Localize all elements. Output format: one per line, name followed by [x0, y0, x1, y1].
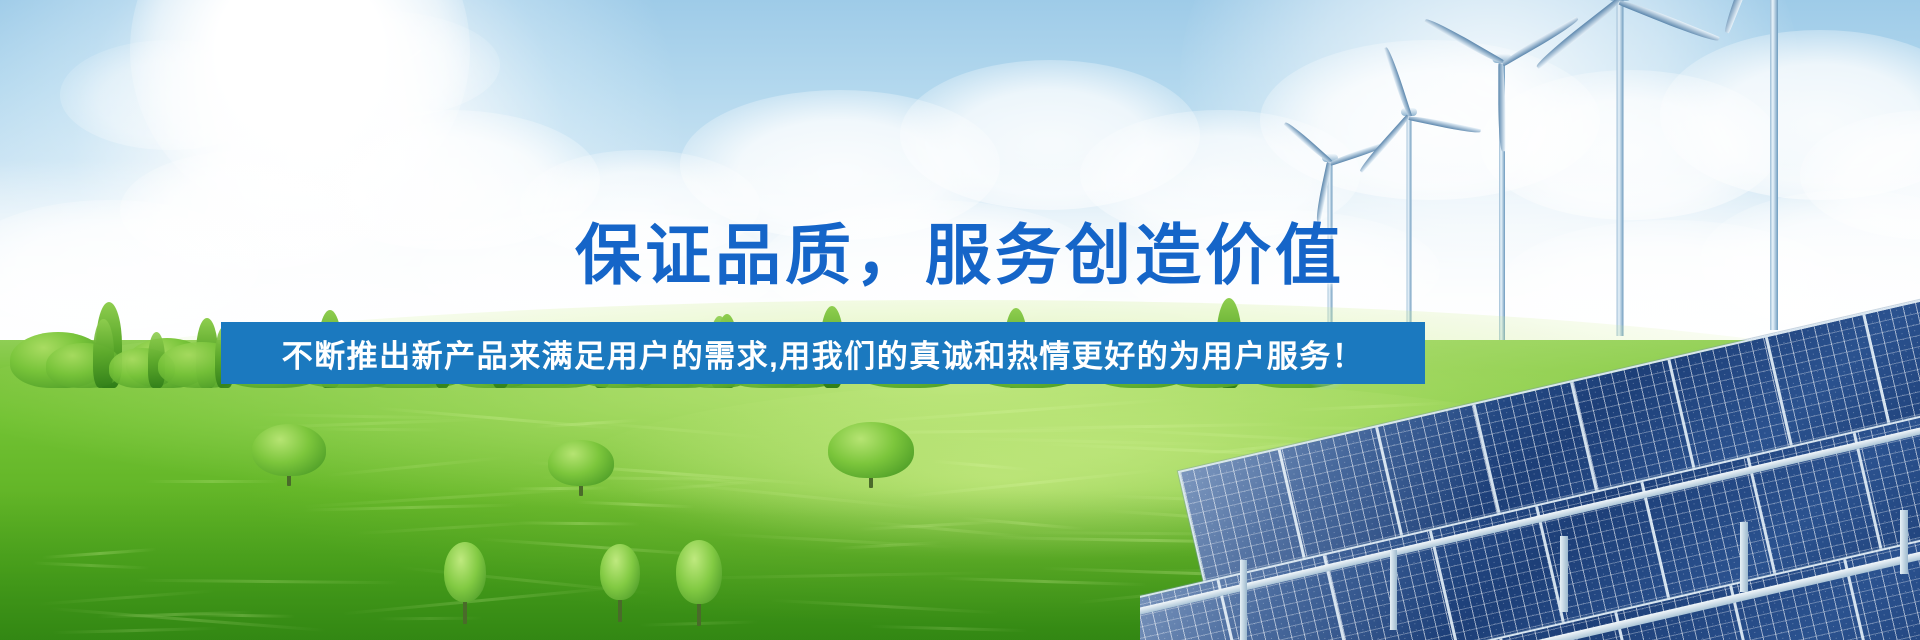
cloud-icon — [240, 10, 500, 120]
hero-banner: 保证品质，服务创造价值 不断推出新产品来满足用户的需求,用我们的真诚和热情更好的… — [0, 0, 1920, 640]
turbine-blade — [1498, 63, 1505, 151]
sapling-3 — [676, 540, 722, 630]
sapling-canopy — [676, 540, 722, 604]
sapling-2 — [600, 544, 640, 626]
tree-canopy — [828, 422, 914, 478]
panel-support-leg — [1560, 536, 1568, 612]
panel-support-leg — [1900, 510, 1908, 574]
panel-support-leg — [1740, 522, 1748, 592]
tree-canopy — [548, 440, 614, 486]
field-tree-left — [252, 424, 326, 490]
field-tree-center — [548, 440, 614, 500]
field-tree-right — [828, 422, 914, 492]
sapling-1 — [444, 542, 486, 628]
subtitle-text: 不断推出新产品来满足用户的需求,用我们的真诚和热情更好的为用户服务！ — [282, 331, 1365, 376]
page-title: 保证品质，服务创造价值 — [0, 222, 1920, 288]
tree-canopy — [252, 424, 326, 476]
sapling-canopy — [444, 542, 486, 602]
panel-support-leg — [1240, 560, 1247, 640]
subtitle-bar: 不断推出新产品来满足用户的需求,用我们的真诚和热情更好的为用户服务！ — [221, 322, 1425, 384]
sapling-canopy — [600, 544, 640, 600]
panel-support-leg — [1390, 550, 1397, 630]
